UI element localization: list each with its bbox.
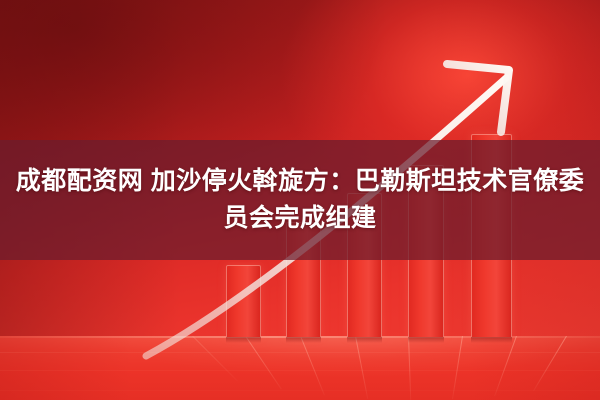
promo-banner: 成都配资网 加沙停火斡旋方：巴勒斯坦技术官僚委员会完成组建 (0, 0, 600, 400)
chart-bar (226, 265, 261, 337)
page-title: 成都配资网 加沙停火斡旋方：巴勒斯坦技术官僚委员会完成组建 (0, 140, 600, 260)
